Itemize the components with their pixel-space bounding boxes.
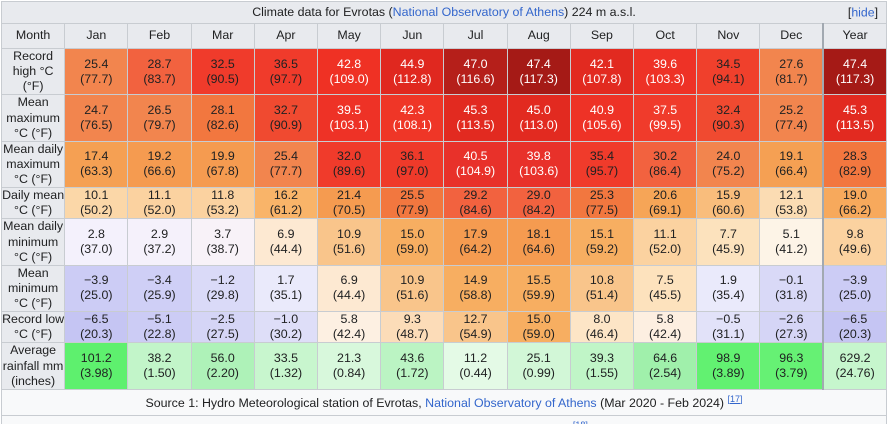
value-fahrenheit: (25.9): [128, 288, 190, 303]
value-fahrenheit: (38.7): [192, 242, 254, 257]
value-fahrenheit: (3.89): [697, 366, 759, 381]
value-celsius: 15.5: [508, 273, 570, 288]
column-header-month: Month: [2, 24, 65, 49]
value-celsius: 64.6: [634, 351, 696, 366]
table-row: Daily mean °C (°F)10.1(50.2)11.1(52.0)11…: [2, 188, 887, 219]
value-fahrenheit: (66.2): [824, 203, 886, 218]
value-fahrenheit: (20.3): [65, 327, 127, 342]
value-celsius: 10.8: [571, 273, 633, 288]
value-fahrenheit: (1.32): [255, 366, 317, 381]
data-cell: 45.0(113.0): [507, 95, 570, 141]
data-cell: −0.1(31.8): [760, 265, 823, 311]
source1-text-a: Source 1: Hydro Meteorological station o…: [146, 396, 426, 410]
value-fahrenheit: (69.1): [634, 203, 696, 218]
value-celsius: 96.3: [760, 351, 822, 366]
value-celsius: 40.5: [444, 149, 506, 164]
value-celsius: 5.8: [634, 312, 696, 327]
value-celsius: 28.7: [128, 57, 190, 72]
column-header-jun: Jun: [381, 24, 444, 49]
value-celsius: 1.9: [697, 273, 759, 288]
row-label: Mean minimum °C (°F): [2, 265, 65, 311]
value-fahrenheit: (117.3): [508, 72, 570, 87]
table-row: Mean minimum °C (°F)−3.9(25.0)−3.4(25.9)…: [2, 265, 887, 311]
value-fahrenheit: (117.3): [824, 72, 886, 87]
value-fahrenheit: (103.1): [318, 118, 380, 133]
value-celsius: 15.1: [571, 227, 633, 242]
hide-control: [hide]: [848, 5, 878, 20]
value-celsius: 38.2: [128, 351, 190, 366]
data-cell: 5.8(42.4): [318, 312, 381, 343]
value-fahrenheit: (51.6): [318, 242, 380, 257]
value-fahrenheit: (52.0): [634, 242, 696, 257]
table-title-cell: Climate data for Evrotas (National Obser…: [2, 2, 887, 24]
source1-text-b: (Mar 2020 - Feb 2024): [597, 396, 728, 410]
value-fahrenheit: (51.4): [571, 288, 633, 303]
value-fahrenheit: (90.5): [192, 72, 254, 87]
table-row: Mean daily maximum °C (°F)17.4(63.3)19.2…: [2, 141, 887, 187]
data-cell: 43.6(1.72): [381, 343, 444, 389]
value-celsius: 2.8: [65, 227, 127, 242]
value-celsius: 32.7: [255, 103, 317, 118]
title-suffix: ) 224 m a.s.l.: [564, 5, 636, 19]
data-cell: 42.8(109.0): [318, 49, 381, 95]
row-label: Record low °C (°F): [2, 312, 65, 343]
data-cell: 32.7(90.9): [254, 95, 317, 141]
value-fahrenheit: (113.5): [444, 118, 506, 133]
value-fahrenheit: (27.5): [192, 327, 254, 342]
climate-data-table: Climate data for Evrotas (National Obser…: [1, 1, 887, 424]
data-cell: 47.0(116.6): [444, 49, 507, 95]
source2-reference-link[interactable]: [18]: [573, 420, 588, 424]
data-cell: 25.4(77.7): [254, 141, 317, 187]
value-fahrenheit: (107.8): [571, 72, 633, 87]
data-cell: 5.8(42.4): [634, 312, 697, 343]
data-cell: 28.7(83.7): [128, 49, 191, 95]
data-cell: 10.8(51.4): [570, 265, 633, 311]
row-label: Mean daily minimum °C (°F): [2, 219, 65, 265]
source1-row: Source 1: Hydro Meteorological station o…: [2, 389, 887, 415]
value-celsius: 56.0: [192, 351, 254, 366]
data-cell: 21.4(70.5): [318, 188, 381, 219]
data-cell: 19.2(66.6): [128, 141, 191, 187]
value-celsius: 25.4: [255, 149, 317, 164]
value-fahrenheit: (27.3): [760, 327, 822, 342]
value-celsius: 15.0: [508, 312, 570, 327]
data-cell: 36.5(97.7): [254, 49, 317, 95]
value-fahrenheit: (86.4): [634, 164, 696, 179]
value-celsius: 11.1: [128, 188, 190, 203]
source2-cell: Source 2: Precipitation from Sparta N.O.…: [2, 415, 887, 424]
data-cell: 45.3(113.5): [823, 95, 886, 141]
source1-reference-link[interactable]: [17]: [727, 394, 742, 404]
value-celsius: 14.9: [444, 273, 506, 288]
column-header-nov: Nov: [697, 24, 760, 49]
value-fahrenheit: (70.5): [318, 203, 380, 218]
value-fahrenheit: (22.8): [128, 327, 190, 342]
value-fahrenheit: (0.84): [318, 366, 380, 381]
value-fahrenheit: (113.5): [824, 118, 886, 133]
data-cell: 34.5(94.1): [697, 49, 760, 95]
value-fahrenheit: (77.7): [65, 72, 127, 87]
table-row: Average rainfall mm (inches)101.2(3.98)3…: [2, 343, 887, 389]
data-cell: 15.1(59.2): [570, 219, 633, 265]
value-celsius: −3.4: [128, 273, 190, 288]
data-cell: 26.5(79.7): [128, 95, 191, 141]
value-fahrenheit: (97.7): [255, 72, 317, 87]
value-fahrenheit: (66.4): [760, 164, 822, 179]
value-celsius: 42.8: [318, 57, 380, 72]
value-celsius: −5.1: [128, 312, 190, 327]
value-celsius: 98.9: [697, 351, 759, 366]
value-fahrenheit: (60.6): [697, 203, 759, 218]
value-fahrenheit: (51.6): [381, 288, 443, 303]
value-celsius: 7.7: [697, 227, 759, 242]
value-fahrenheit: (99.5): [634, 118, 696, 133]
data-cell: 6.9(44.4): [318, 265, 381, 311]
value-fahrenheit: (53.2): [192, 203, 254, 218]
value-fahrenheit: (59.0): [508, 327, 570, 342]
source1-cell: Source 1: Hydro Meteorological station o…: [2, 389, 887, 415]
value-fahrenheit: (108.1): [381, 118, 443, 133]
value-celsius: 15.9: [697, 188, 759, 203]
data-cell: 19.1(66.4): [760, 141, 823, 187]
row-label: Average rainfall mm (inches): [2, 343, 65, 389]
table-row: Mean daily minimum °C (°F)2.8(37.0)2.9(3…: [2, 219, 887, 265]
data-cell: −1.2(29.8): [191, 265, 254, 311]
data-cell: 6.9(44.4): [254, 219, 317, 265]
data-cell: −2.6(27.3): [760, 312, 823, 343]
value-fahrenheit: (84.6): [444, 203, 506, 218]
value-fahrenheit: (37.2): [128, 242, 190, 257]
value-celsius: 28.1: [192, 103, 254, 118]
value-celsius: 25.4: [65, 57, 127, 72]
page-title: Climate data for Evrotas (National Obser…: [2, 5, 886, 20]
data-cell: −6.5(20.3): [65, 312, 128, 343]
data-cell: 12.1(53.8): [760, 188, 823, 219]
value-fahrenheit: (49.6): [824, 242, 886, 257]
value-celsius: 44.9: [381, 57, 443, 72]
value-fahrenheit: (66.6): [128, 164, 190, 179]
value-fahrenheit: (2.20): [192, 366, 254, 381]
value-celsius: 25.3: [571, 188, 633, 203]
value-fahrenheit: (0.99): [508, 366, 570, 381]
value-fahrenheit: (3.98): [65, 366, 127, 381]
data-cell: 96.3(3.79): [760, 343, 823, 389]
value-fahrenheit: (54.9): [444, 327, 506, 342]
value-celsius: 3.7: [192, 227, 254, 242]
value-fahrenheit: (24.76): [824, 366, 886, 381]
source1-observatory-link[interactable]: National Observatory of Athens: [425, 396, 597, 410]
data-cell: 629.2(24.76): [823, 343, 886, 389]
value-celsius: 45.0: [508, 103, 570, 118]
title-prefix: Climate data for Evrotas (: [252, 5, 392, 19]
value-fahrenheit: (1.72): [381, 366, 443, 381]
value-fahrenheit: (37.0): [65, 242, 127, 257]
value-celsius: 24.0: [697, 149, 759, 164]
value-fahrenheit: (104.9): [444, 164, 506, 179]
value-celsius: 10.9: [381, 273, 443, 288]
value-fahrenheit: (81.7): [760, 72, 822, 87]
value-fahrenheit: (59.2): [571, 242, 633, 257]
value-fahrenheit: (35.4): [697, 288, 759, 303]
value-celsius: 39.5: [318, 103, 380, 118]
value-celsius: 17.9: [444, 227, 506, 242]
value-fahrenheit: (29.8): [192, 288, 254, 303]
data-cell: 39.5(103.1): [318, 95, 381, 141]
value-celsius: 24.7: [65, 103, 127, 118]
value-fahrenheit: (77.9): [381, 203, 443, 218]
value-fahrenheit: (35.1): [255, 288, 317, 303]
data-cell: 15.0(59.0): [507, 312, 570, 343]
value-celsius: 8.0: [571, 312, 633, 327]
data-cell: 15.9(60.6): [697, 188, 760, 219]
value-celsius: 19.9: [192, 149, 254, 164]
value-celsius: 45.3: [444, 103, 506, 118]
data-cell: 101.2(3.98): [65, 343, 128, 389]
value-fahrenheit: (89.6): [318, 164, 380, 179]
value-celsius: −3.9: [65, 273, 127, 288]
data-cell: 10.1(50.2): [65, 188, 128, 219]
value-celsius: 42.1: [571, 57, 633, 72]
value-celsius: 42.3: [381, 103, 443, 118]
value-fahrenheit: (46.4): [571, 327, 633, 342]
value-celsius: 19.0: [824, 188, 886, 203]
value-celsius: −6.5: [824, 312, 886, 327]
value-fahrenheit: (77.5): [571, 203, 633, 218]
value-celsius: 21.4: [318, 188, 380, 203]
value-celsius: 35.4: [571, 149, 633, 164]
value-fahrenheit: (0.44): [444, 366, 506, 381]
data-cell: 47.4(117.3): [823, 49, 886, 95]
data-cell: 32.4(90.3): [697, 95, 760, 141]
data-cell: 40.9(105.6): [570, 95, 633, 141]
data-cell: 10.9(51.6): [318, 219, 381, 265]
value-celsius: −0.1: [760, 273, 822, 288]
data-cell: 9.3(48.7): [381, 312, 444, 343]
value-celsius: −1.0: [255, 312, 317, 327]
value-celsius: 36.1: [381, 149, 443, 164]
value-celsius: 19.1: [760, 149, 822, 164]
data-cell: 17.9(64.2): [444, 219, 507, 265]
value-fahrenheit: (20.3): [824, 327, 886, 342]
row-label: Mean maximum °C (°F): [2, 95, 65, 141]
column-header-jul: Jul: [444, 24, 507, 49]
value-fahrenheit: (31.1): [697, 327, 759, 342]
column-header-feb: Feb: [128, 24, 191, 49]
value-celsius: 25.5: [381, 188, 443, 203]
value-celsius: 15.0: [381, 227, 443, 242]
value-celsius: −6.5: [65, 312, 127, 327]
value-fahrenheit: (95.7): [571, 164, 633, 179]
value-celsius: 7.5: [634, 273, 696, 288]
value-fahrenheit: (67.8): [192, 164, 254, 179]
data-cell: 29.0(84.2): [507, 188, 570, 219]
value-celsius: 39.8: [508, 149, 570, 164]
data-cell: −0.5(31.1): [697, 312, 760, 343]
value-celsius: 43.6: [381, 351, 443, 366]
value-fahrenheit: (97.0): [381, 164, 443, 179]
value-celsius: 9.3: [381, 312, 443, 327]
data-cell: 56.0(2.20): [191, 343, 254, 389]
value-fahrenheit: (59.0): [381, 242, 443, 257]
value-fahrenheit: (77.7): [255, 164, 317, 179]
value-fahrenheit: (42.4): [634, 327, 696, 342]
value-celsius: 12.1: [760, 188, 822, 203]
value-celsius: 11.1: [634, 227, 696, 242]
row-label: Daily mean °C (°F): [2, 188, 65, 219]
value-fahrenheit: (112.8): [381, 72, 443, 87]
value-celsius: 11.8: [192, 188, 254, 203]
data-cell: 8.0(46.4): [570, 312, 633, 343]
data-cell: 24.0(75.2): [697, 141, 760, 187]
value-celsius: 2.9: [128, 227, 190, 242]
value-celsius: 33.5: [255, 351, 317, 366]
data-cell: 28.1(82.6): [191, 95, 254, 141]
value-celsius: 5.1: [760, 227, 822, 242]
value-fahrenheit: (61.2): [255, 203, 317, 218]
value-fahrenheit: (58.8): [444, 288, 506, 303]
column-header-may: May: [318, 24, 381, 49]
data-cell: 24.7(76.5): [65, 95, 128, 141]
value-celsius: 5.8: [318, 312, 380, 327]
data-cell: 47.4(117.3): [507, 49, 570, 95]
value-fahrenheit: (3.79): [760, 366, 822, 381]
data-cell: 7.7(45.9): [697, 219, 760, 265]
table-row: Mean maximum °C (°F)24.7(76.5)26.5(79.7)…: [2, 95, 887, 141]
value-celsius: 32.4: [697, 103, 759, 118]
value-celsius: 36.5: [255, 57, 317, 72]
value-fahrenheit: (44.4): [318, 288, 380, 303]
value-celsius: 9.8: [824, 227, 886, 242]
column-header-mar: Mar: [191, 24, 254, 49]
value-celsius: 28.3: [824, 149, 886, 164]
data-cell: 39.6(103.3): [634, 49, 697, 95]
value-fahrenheit: (63.3): [65, 164, 127, 179]
data-cell: 35.4(95.7): [570, 141, 633, 187]
value-fahrenheit: (30.2): [255, 327, 317, 342]
data-cell: 14.9(58.8): [444, 265, 507, 311]
value-fahrenheit: (90.9): [255, 118, 317, 133]
data-cell: 12.7(54.9): [444, 312, 507, 343]
value-fahrenheit: (83.7): [128, 72, 190, 87]
data-cell: 15.0(59.0): [381, 219, 444, 265]
value-celsius: 29.2: [444, 188, 506, 203]
value-fahrenheit: (113.0): [508, 118, 570, 133]
data-cell: −3.4(25.9): [128, 265, 191, 311]
column-header-oct: Oct: [634, 24, 697, 49]
value-celsius: 101.2: [65, 351, 127, 366]
data-cell: −1.0(30.2): [254, 312, 317, 343]
value-celsius: 6.9: [255, 227, 317, 242]
data-cell: 11.8(53.2): [191, 188, 254, 219]
column-header-jan: Jan: [65, 24, 128, 49]
row-label: Record high °C (°F): [2, 49, 65, 95]
value-fahrenheit: (45.9): [697, 242, 759, 257]
value-celsius: 30.2: [634, 149, 696, 164]
column-header-aug: Aug: [507, 24, 570, 49]
value-fahrenheit: (77.4): [760, 118, 822, 133]
value-celsius: 32.5: [192, 57, 254, 72]
value-fahrenheit: (64.6): [508, 242, 570, 257]
value-fahrenheit: (52.0): [128, 203, 190, 218]
source2-row: Source 2: Precipitation from Sparta N.O.…: [2, 415, 887, 424]
value-celsius: 45.3: [824, 103, 886, 118]
value-celsius: −0.5: [697, 312, 759, 327]
value-celsius: 32.0: [318, 149, 380, 164]
value-fahrenheit: (1.55): [571, 366, 633, 381]
value-fahrenheit: (1.50): [128, 366, 190, 381]
data-cell: 25.4(77.7): [65, 49, 128, 95]
data-cell: 32.5(90.5): [191, 49, 254, 95]
value-fahrenheit: (109.0): [318, 72, 380, 87]
data-cell: 20.6(69.1): [634, 188, 697, 219]
value-celsius: 19.2: [128, 149, 190, 164]
data-cell: 28.3(82.9): [823, 141, 886, 187]
data-cell: −5.1(22.8): [128, 312, 191, 343]
data-cell: 19.9(67.8): [191, 141, 254, 187]
value-fahrenheit: (103.3): [634, 72, 696, 87]
data-cell: 10.9(51.6): [381, 265, 444, 311]
data-cell: 5.1(41.2): [760, 219, 823, 265]
value-celsius: 10.9: [318, 227, 380, 242]
value-celsius: 47.0: [444, 57, 506, 72]
value-celsius: 20.6: [634, 188, 696, 203]
data-cell: 42.1(107.8): [570, 49, 633, 95]
data-cell: −3.9(25.0): [823, 265, 886, 311]
title-observatory-link[interactable]: National Observatory of Athens: [393, 5, 565, 19]
data-cell: 64.6(2.54): [634, 343, 697, 389]
value-celsius: 11.2: [444, 351, 506, 366]
data-cell: 11.2(0.44): [444, 343, 507, 389]
value-fahrenheit: (103.6): [508, 164, 570, 179]
data-cell: 3.7(38.7): [191, 219, 254, 265]
data-cell: 39.3(1.55): [570, 343, 633, 389]
data-cell: 25.2(77.4): [760, 95, 823, 141]
value-fahrenheit: (2.54): [634, 366, 696, 381]
data-cell: 1.9(35.4): [697, 265, 760, 311]
value-celsius: 1.7: [255, 273, 317, 288]
value-celsius: 39.6: [634, 57, 696, 72]
data-cell: 25.5(77.9): [381, 188, 444, 219]
data-cell: 1.7(35.1): [254, 265, 317, 311]
table-row: Record low °C (°F)−6.5(20.3)−5.1(22.8)−2…: [2, 312, 887, 343]
data-cell: 11.1(52.0): [128, 188, 191, 219]
value-celsius: −2.5: [192, 312, 254, 327]
value-fahrenheit: (116.6): [444, 72, 506, 87]
value-fahrenheit: (53.8): [760, 203, 822, 218]
data-cell: 25.1(0.99): [507, 343, 570, 389]
hide-link[interactable]: hide: [851, 5, 874, 19]
data-cell: 42.3(108.1): [381, 95, 444, 141]
value-fahrenheit: (25.0): [65, 288, 127, 303]
data-cell: 17.4(63.3): [65, 141, 128, 187]
value-celsius: 17.4: [65, 149, 127, 164]
column-header-sep: Sep: [570, 24, 633, 49]
value-celsius: 47.4: [824, 57, 886, 72]
value-fahrenheit: (94.1): [697, 72, 759, 87]
data-cell: 29.2(84.6): [444, 188, 507, 219]
value-celsius: 25.2: [760, 103, 822, 118]
value-fahrenheit: (79.7): [128, 118, 190, 133]
value-celsius: 47.4: [508, 57, 570, 72]
column-header-row: MonthJanFebMarAprMayJunJulAugSepOctNovDe…: [2, 24, 887, 49]
value-celsius: −2.6: [760, 312, 822, 327]
column-header-apr: Apr: [254, 24, 317, 49]
data-cell: 44.9(112.8): [381, 49, 444, 95]
value-fahrenheit: (50.2): [65, 203, 127, 218]
value-fahrenheit: (64.2): [444, 242, 506, 257]
value-celsius: 16.2: [255, 188, 317, 203]
